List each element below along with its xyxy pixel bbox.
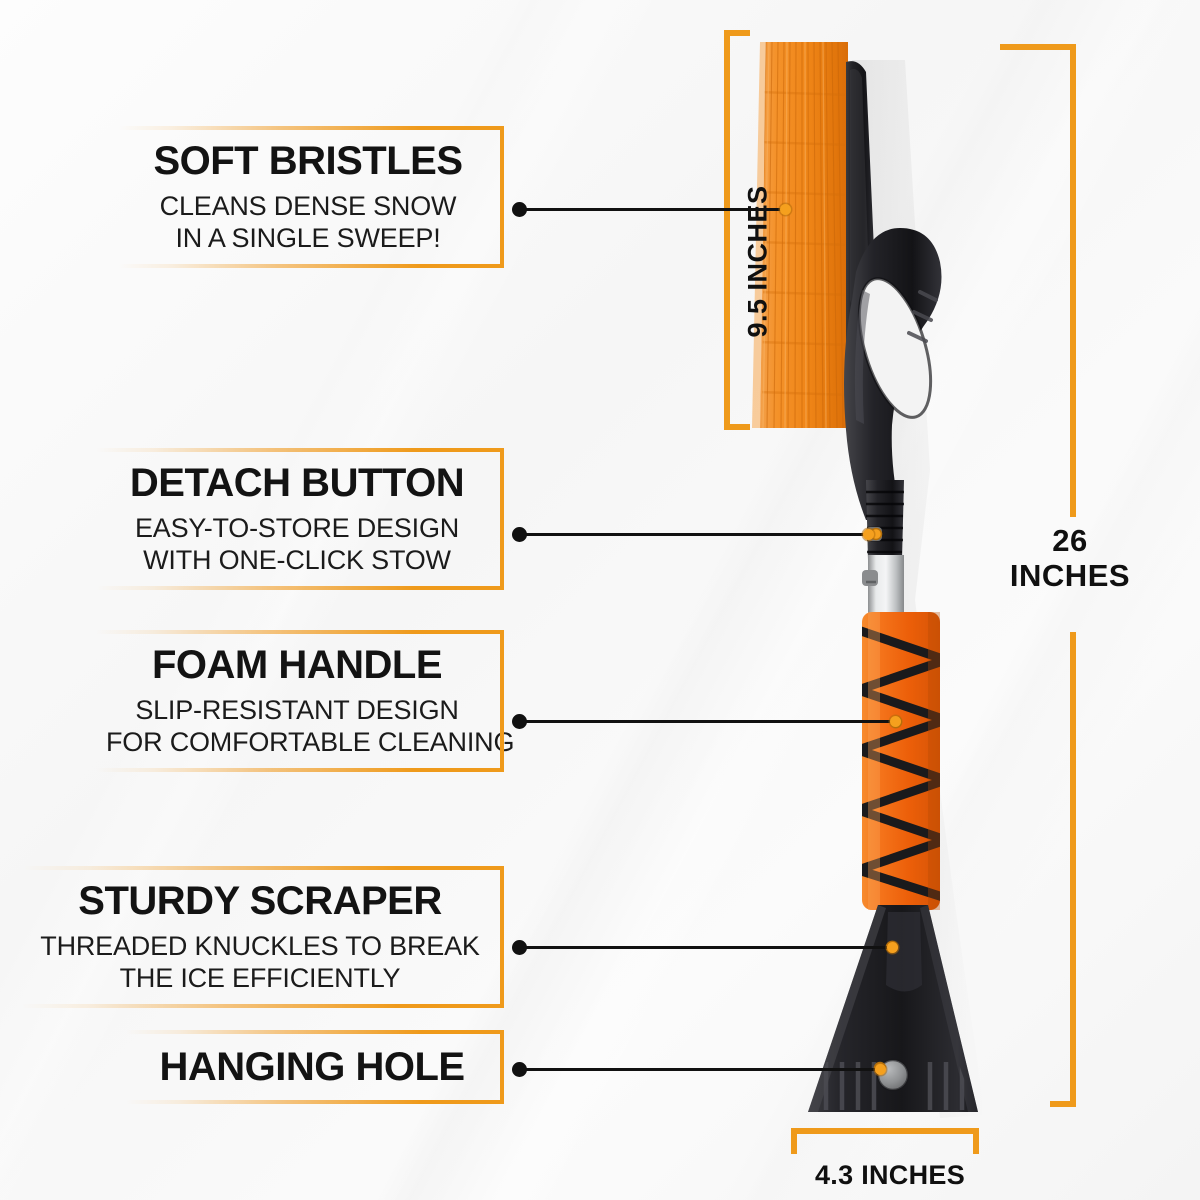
leader-dot-product — [887, 942, 898, 953]
leader-dot-label — [512, 1062, 527, 1077]
callout-title: HANGING HOLE — [136, 1046, 488, 1088]
bracket-scraper-width — [790, 1126, 990, 1162]
callout-subtitle-line2: FOR COMFORTABLE CLEANING — [106, 727, 488, 758]
leader-dot-product — [890, 716, 901, 727]
callout-subtitle: EASY-TO-STORE DESIGN WITH ONE-CLICK STOW — [106, 513, 488, 576]
leader-line-foam-handle — [519, 720, 896, 723]
dimension-scraper-width: 4.3 INCHES — [760, 1160, 1020, 1191]
callout-detach-button[interactable]: DETACH BUTTON EASY-TO-STORE DESIGN WITH … — [96, 448, 504, 590]
ribbed-collar — [866, 480, 904, 560]
callout-subtitle-line2: IN A SINGLE SWEEP! — [128, 223, 488, 254]
dimension-brush-head: 9.5 INCHES — [743, 172, 774, 352]
callout-sturdy-scraper[interactable]: STURDY SCRAPER THREADED KNUCKLES TO BREA… — [22, 866, 504, 1008]
leader-line-sturdy-scraper — [519, 946, 893, 949]
callout-title: DETACH BUTTON — [106, 462, 488, 504]
callout-subtitle-line1: CLEANS DENSE SNOW — [128, 191, 488, 222]
leader-dot-label — [512, 714, 527, 729]
callout-edge — [500, 866, 504, 1008]
shaft-latch — [862, 570, 878, 586]
callout-subtitle-line1: THREADED KNUCKLES TO BREAK — [32, 931, 488, 962]
leader-dot-label — [512, 940, 527, 955]
leader-line-detach-button — [519, 533, 869, 536]
callout-subtitle-line1: EASY-TO-STORE DESIGN — [106, 513, 488, 544]
callout-subtitle-line2: THE ICE EFFICIENTLY — [32, 963, 488, 994]
leader-dot-label — [512, 202, 527, 217]
infographic-canvas: 9.5 INCHES 26 INCHES 4.3 INCHES SOFT BRI… — [0, 0, 1200, 1200]
callout-edge — [500, 448, 504, 590]
callout-subtitle: THREADED KNUCKLES TO BREAK THE ICE EFFIC… — [32, 931, 488, 994]
callout-edge — [500, 1030, 504, 1104]
dimension-total-length: 26 INCHES — [1000, 524, 1140, 593]
leader-dot-product — [780, 204, 791, 215]
callout-title: STURDY SCRAPER — [32, 880, 488, 922]
callout-hanging-hole[interactable]: HANGING HOLE — [126, 1030, 504, 1104]
callout-foam-handle[interactable]: FOAM HANDLE SLIP-RESISTANT DESIGN FOR CO… — [96, 630, 504, 772]
foam-grip — [858, 612, 946, 910]
callout-subtitle-line2: WITH ONE-CLICK STOW — [106, 545, 488, 576]
callout-subtitle: CLEANS DENSE SNOW IN A SINGLE SWEEP! — [128, 191, 488, 254]
callout-subtitle: SLIP-RESISTANT DESIGN FOR COMFORTABLE CL… — [106, 695, 488, 758]
callout-title: SOFT BRISTLES — [128, 140, 488, 182]
callout-edge — [500, 630, 504, 772]
leader-dot-product — [863, 529, 874, 540]
leader-line-soft-bristles — [519, 208, 786, 211]
callout-subtitle-line1: SLIP-RESISTANT DESIGN — [106, 695, 488, 726]
callout-edge — [500, 126, 504, 268]
leader-line-hanging-hole — [519, 1068, 881, 1071]
callout-title: FOAM HANDLE — [106, 644, 488, 686]
callout-soft-bristles[interactable]: SOFT BRISTLES CLEANS DENSE SNOW IN A SIN… — [118, 126, 504, 268]
leader-dot-label — [512, 527, 527, 542]
leader-dot-product — [875, 1064, 886, 1075]
